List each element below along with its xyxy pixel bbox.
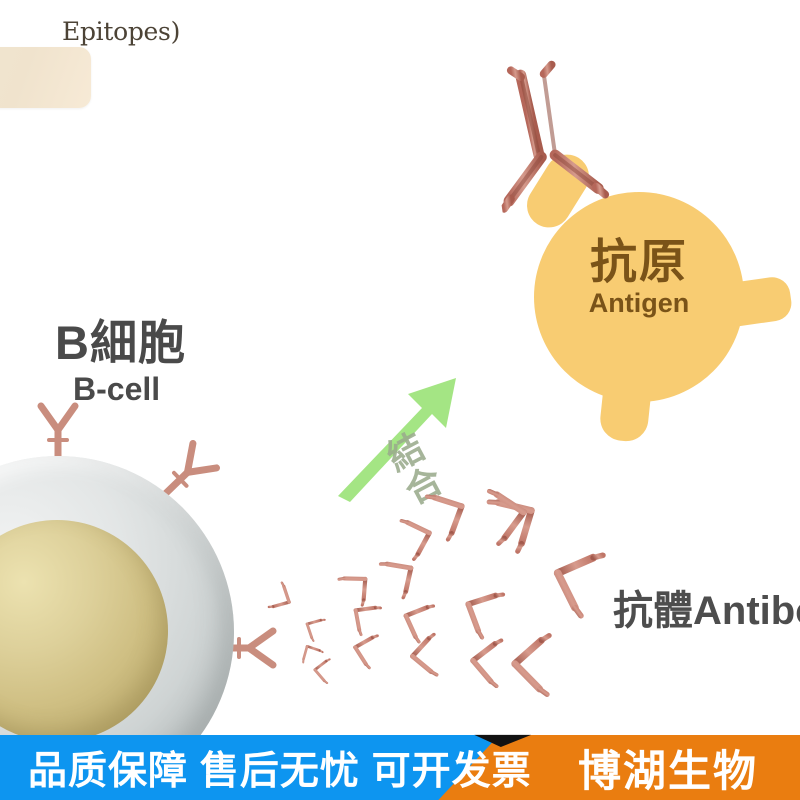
antibody-icon	[393, 633, 440, 680]
bcell-label-cn: B細胞	[55, 318, 186, 367]
bound-antibody-icon	[482, 51, 612, 215]
antigen-body	[534, 192, 744, 402]
antibody-icon	[487, 631, 553, 697]
epitopes-callout-label: Epitopes)	[62, 17, 180, 46]
bcell-receptor-icon	[35, 402, 81, 464]
banner-brand-name: 博湖生物	[578, 735, 758, 800]
antibody-icon	[303, 656, 332, 685]
antibody-label: 抗體Antibo	[613, 578, 800, 636]
bcell-label: B細胞 B-cell	[55, 318, 186, 408]
bcell-label-en: B-cell	[73, 371, 186, 408]
banner-slogan: 品质保障 售后无忧 可开发票	[28, 735, 532, 800]
promo-diagram-canvas: Epitopes) 抗原 Antigen	[0, 0, 800, 800]
epitopes-callout-box	[0, 47, 91, 108]
bottom-banner: 品质保障 售后无忧 可开发票 博湖生物	[0, 735, 800, 800]
antibody-icon	[336, 626, 380, 670]
